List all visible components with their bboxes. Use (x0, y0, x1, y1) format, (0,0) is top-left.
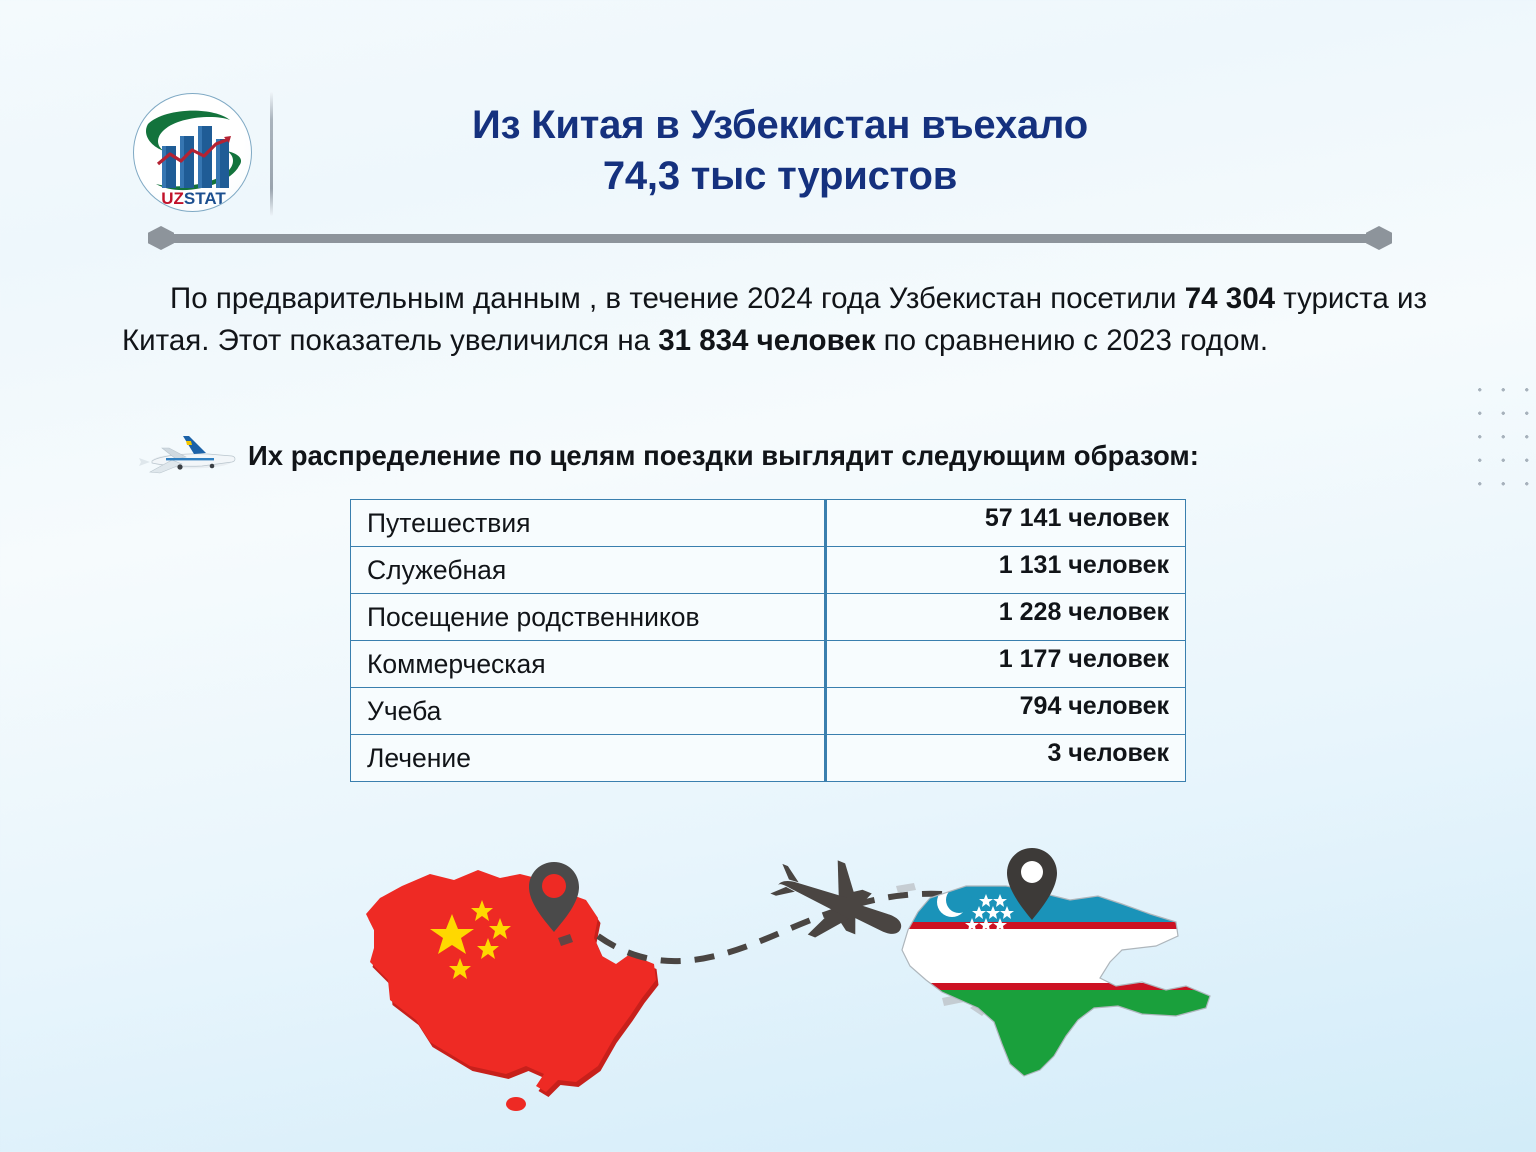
rule-bar (164, 234, 1376, 243)
intro-increase-value: 31 834 человек (658, 324, 875, 357)
purpose-breakdown-table: Путешествия 57 141 человек Служебная 1 1… (350, 499, 1186, 782)
intro-total-visitors: 74 304 (1185, 282, 1275, 315)
china-landmass (366, 870, 656, 1092)
purpose-value: 1 228 человек (826, 594, 1186, 641)
purpose-value: 57 141 человек (826, 500, 1186, 547)
table-row: Учеба 794 человек (351, 688, 1186, 735)
purpose-label: Служебная (351, 547, 826, 594)
intro-paragraph: По предварительным данным , в течение 20… (122, 278, 1427, 363)
page-title-line-1: Из Китая в Узбекистан въехало (472, 103, 1088, 147)
subtitle-text: Их распределение по целям поездки выгляд… (248, 440, 1199, 472)
purpose-label: Путешествия (351, 500, 826, 547)
airplane-photo-icon (136, 428, 240, 484)
flag-band-green (890, 990, 1220, 1090)
uzbekistan-flag-fill (890, 870, 1220, 1090)
china-map (366, 862, 659, 1111)
table-row: Путешествия 57 141 человек (351, 500, 1186, 547)
svg-text:UZSTAT: UZSTAT (161, 189, 226, 208)
page-title-line-2: 74,3 тыс туристов (300, 151, 1260, 202)
purpose-table-body: Путешествия 57 141 человек Служебная 1 1… (351, 500, 1186, 782)
table-row: Коммерческая 1 177 человек (351, 641, 1186, 688)
subtitle-row: Их распределение по целям поездки выгляд… (136, 428, 1199, 484)
header-rule (148, 226, 1392, 250)
purpose-label: Учеба (351, 688, 826, 735)
table-row: Лечение 3 человек (351, 735, 1186, 782)
purpose-value: 1 177 человек (826, 641, 1186, 688)
table-row: Посещение родственников 1 228 человек (351, 594, 1186, 641)
intro-part-1: По предварительным данным , в течение 20… (170, 282, 1185, 315)
travel-route-illustration (330, 830, 1230, 1120)
flag-stripe-red-top (890, 922, 1220, 929)
flag-band-white (890, 929, 1220, 983)
purpose-value: 794 человек (826, 688, 1186, 735)
china-hainan (506, 1097, 526, 1111)
uzbekistan-map (890, 848, 1220, 1090)
page-title: Из Китая в Узбекистан въехало 74,3 тыс т… (300, 100, 1260, 202)
purpose-label: Лечение (351, 735, 826, 782)
decorative-dot-grid (1466, 376, 1536, 494)
purpose-value: 1 131 человек (826, 547, 1186, 594)
table-row: Служебная 1 131 человек (351, 547, 1186, 594)
purpose-label: Посещение родственников (351, 594, 826, 641)
rule-cap-right (1366, 226, 1392, 250)
header-divider (270, 92, 273, 216)
purpose-value: 3 человек (826, 735, 1186, 782)
airplane-silhouette-icon (761, 842, 915, 966)
intro-part-3: по сравнению с 2023 годом. (875, 324, 1268, 357)
uzstat-logo: UZSTAT (133, 93, 252, 212)
purpose-label: Коммерческая (351, 641, 826, 688)
